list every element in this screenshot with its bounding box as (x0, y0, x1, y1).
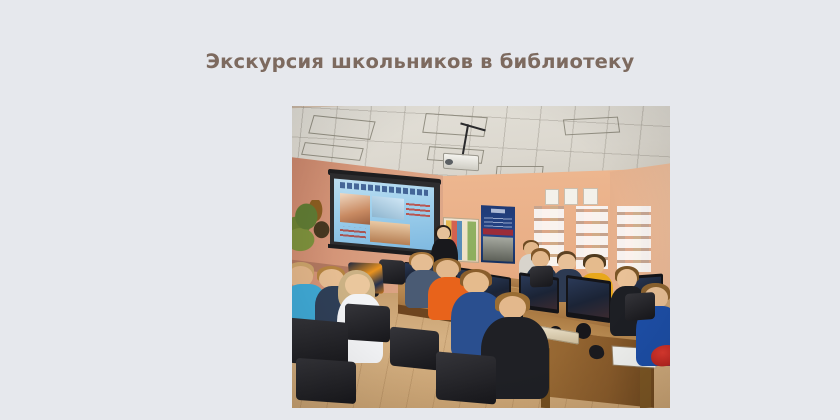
slide-body-text (406, 201, 430, 217)
chair (296, 358, 356, 404)
ceiling-vent (563, 117, 620, 135)
roll-up-banner (481, 205, 515, 264)
chair (390, 327, 439, 371)
banner-text-block (484, 215, 511, 227)
wall-leaflet (564, 188, 578, 204)
chair (530, 265, 553, 287)
chair (436, 351, 496, 405)
child-head (345, 274, 369, 296)
child-head (499, 296, 526, 319)
chair (625, 292, 655, 321)
banner-photo (483, 236, 513, 262)
wall-leaflet (545, 189, 559, 205)
wall-leaflet (583, 188, 598, 205)
slide-canvas: Экскурсия школьников в библиотеку (0, 0, 840, 420)
ceiling-vent (423, 113, 489, 137)
child-head (463, 272, 488, 294)
slide-building-photo (372, 196, 404, 220)
photo-figure (292, 106, 670, 408)
page-title: Экскурсия школьников в библиотеку (0, 50, 840, 73)
chair (345, 304, 390, 343)
monitor (566, 275, 611, 324)
potted-plant (292, 200, 349, 266)
banner-highlight-strip (483, 228, 513, 235)
banner-logo (491, 209, 505, 214)
wall-display-rack (617, 206, 651, 272)
slide-building-photo (370, 221, 410, 245)
